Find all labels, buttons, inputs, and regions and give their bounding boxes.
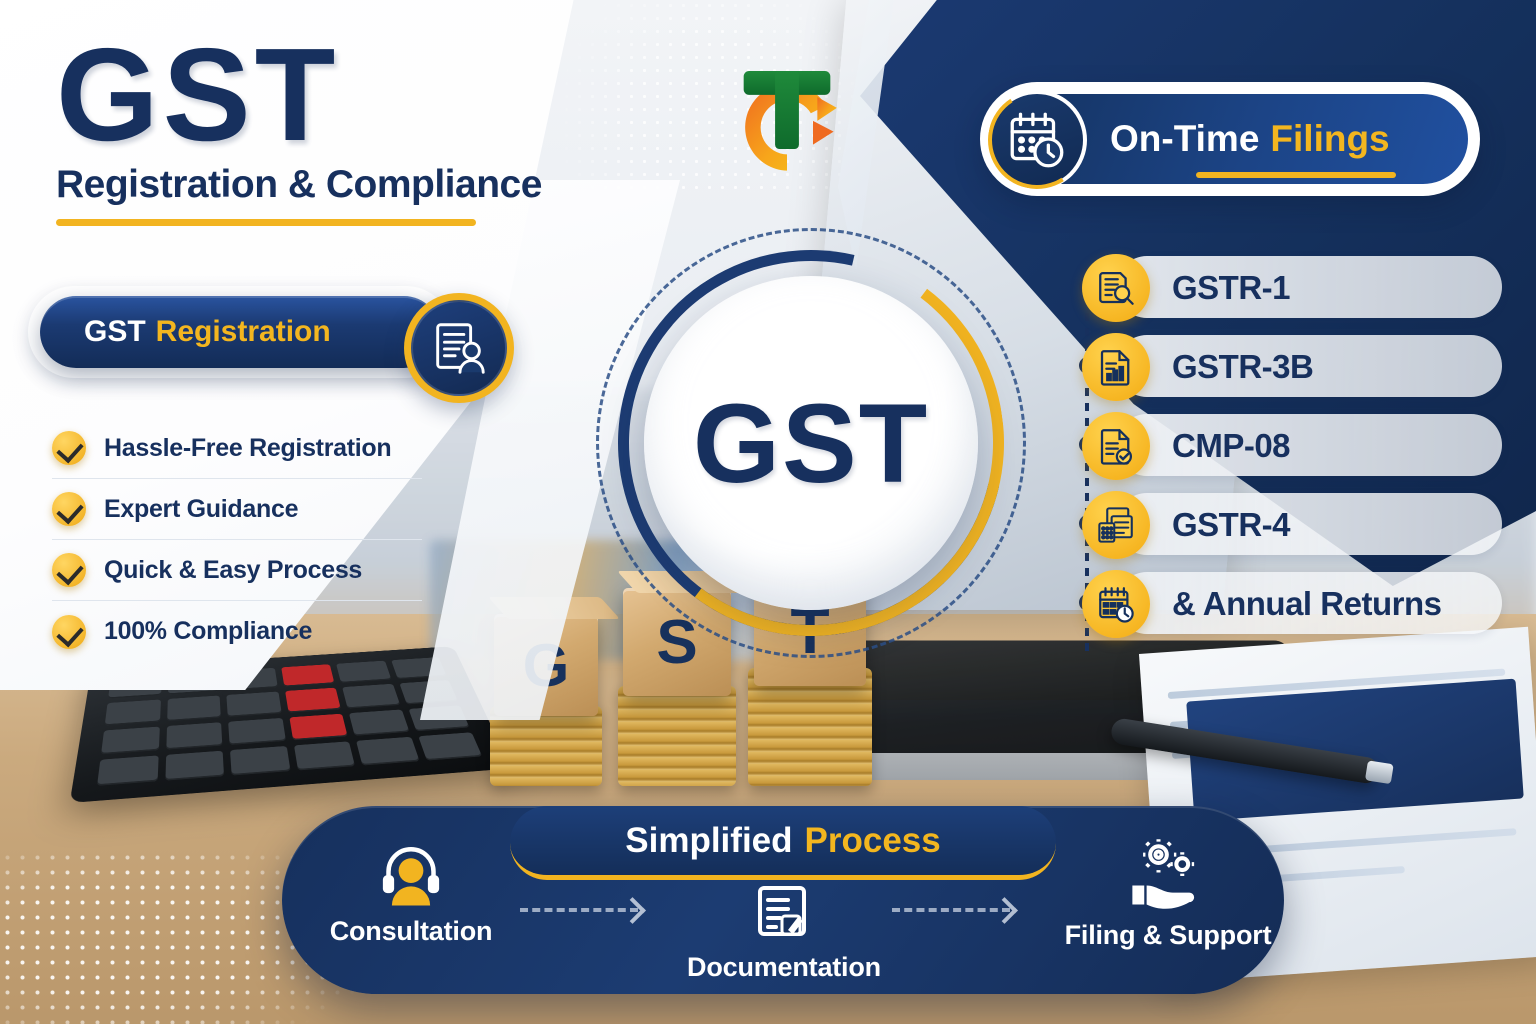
process-arrow-1 xyxy=(520,908,638,912)
list-item-label: CMP-08 xyxy=(1172,427,1290,465)
list-item-label: 100% Compliance xyxy=(104,617,312,646)
process-step-label: Documentation xyxy=(684,952,884,983)
list-item[interactable]: GSTR-3B xyxy=(1072,327,1492,406)
filings-header-label-yellow: Filings xyxy=(1270,118,1389,160)
process-step-label: Filing & Support xyxy=(1058,920,1278,951)
headset-agent-icon xyxy=(375,838,447,910)
list-item[interactable]: Quick & Easy Process xyxy=(52,540,422,601)
gst-registration-badge[interactable]: GST Registration xyxy=(40,296,440,368)
logo-icon xyxy=(722,58,852,188)
calculator-documents-icon xyxy=(1082,491,1150,559)
registration-badge-label-white: GST xyxy=(84,315,146,349)
registration-badge-label-yellow: Registration xyxy=(156,315,331,349)
tax-consultant-logo xyxy=(722,58,852,188)
list-item-label: Expert Guidance xyxy=(104,495,298,524)
list-item-label: Hassle-Free Registration xyxy=(104,434,391,463)
page-title-group: GST Registration & Compliance xyxy=(56,34,576,226)
document-check-icon xyxy=(1082,412,1150,480)
check-circle-icon xyxy=(52,553,86,587)
benefits-checklist: Hassle-Free Registration Expert Guidance… xyxy=(52,418,422,662)
document-magnifier-icon xyxy=(1082,254,1150,322)
page-subtitle: Registration & Compliance xyxy=(56,163,576,207)
process-arrow-2 xyxy=(892,908,1010,912)
process-title-white: Simplified xyxy=(625,821,792,861)
process-step-consultation[interactable]: Consultation xyxy=(316,838,506,947)
filings-list: GSTR-1 GSTR-3B xyxy=(1072,248,1492,643)
infographic-canvas: G S T GST Registration & Compliance xyxy=(0,0,1536,1024)
document-pen-icon xyxy=(752,882,816,946)
process-title-yellow: Process xyxy=(805,821,941,861)
filings-header-underline xyxy=(1196,172,1396,178)
list-item[interactable]: GSTR-1 xyxy=(1072,248,1492,327)
document-chart-icon xyxy=(1082,333,1150,401)
check-circle-icon xyxy=(52,431,86,465)
check-circle-icon xyxy=(52,615,86,649)
process-step-filing-support[interactable]: Filing & Support xyxy=(1058,838,1278,951)
list-item-label: Quick & Easy Process xyxy=(104,556,362,585)
list-item[interactable]: 100% Compliance xyxy=(52,601,422,662)
center-emblem-label: GST xyxy=(693,379,929,508)
gst-center-emblem: GST xyxy=(596,228,1026,658)
filings-header-label-white: On-Time xyxy=(1110,118,1259,160)
calendar-clock-icon xyxy=(1082,570,1150,638)
title-underline xyxy=(56,219,476,226)
list-item[interactable]: GSTR-4 xyxy=(1072,485,1492,564)
list-item-label: & Annual Returns xyxy=(1172,585,1441,623)
hand-gears-icon xyxy=(1124,838,1212,914)
list-item[interactable]: Expert Guidance xyxy=(52,479,422,540)
center-disc: GST xyxy=(644,276,978,610)
list-item[interactable]: & Annual Returns xyxy=(1072,564,1492,643)
check-circle-icon xyxy=(52,492,86,526)
document-user-icon xyxy=(411,300,507,396)
list-item[interactable]: Hassle-Free Registration xyxy=(52,418,422,479)
list-item[interactable]: CMP-08 xyxy=(1072,406,1492,485)
process-step-documentation[interactable]: Documentation xyxy=(684,882,884,983)
list-item-label: GSTR-3B xyxy=(1172,348,1313,386)
calendar-clock-icon xyxy=(987,90,1087,190)
page-title: GST xyxy=(56,34,576,155)
list-item-label: GSTR-4 xyxy=(1172,506,1290,544)
process-title-badge: Simplified Process xyxy=(510,806,1056,880)
registration-badge-icon-ring xyxy=(404,293,514,403)
list-item-label: GSTR-1 xyxy=(1172,269,1290,307)
process-step-label: Consultation xyxy=(316,916,506,947)
